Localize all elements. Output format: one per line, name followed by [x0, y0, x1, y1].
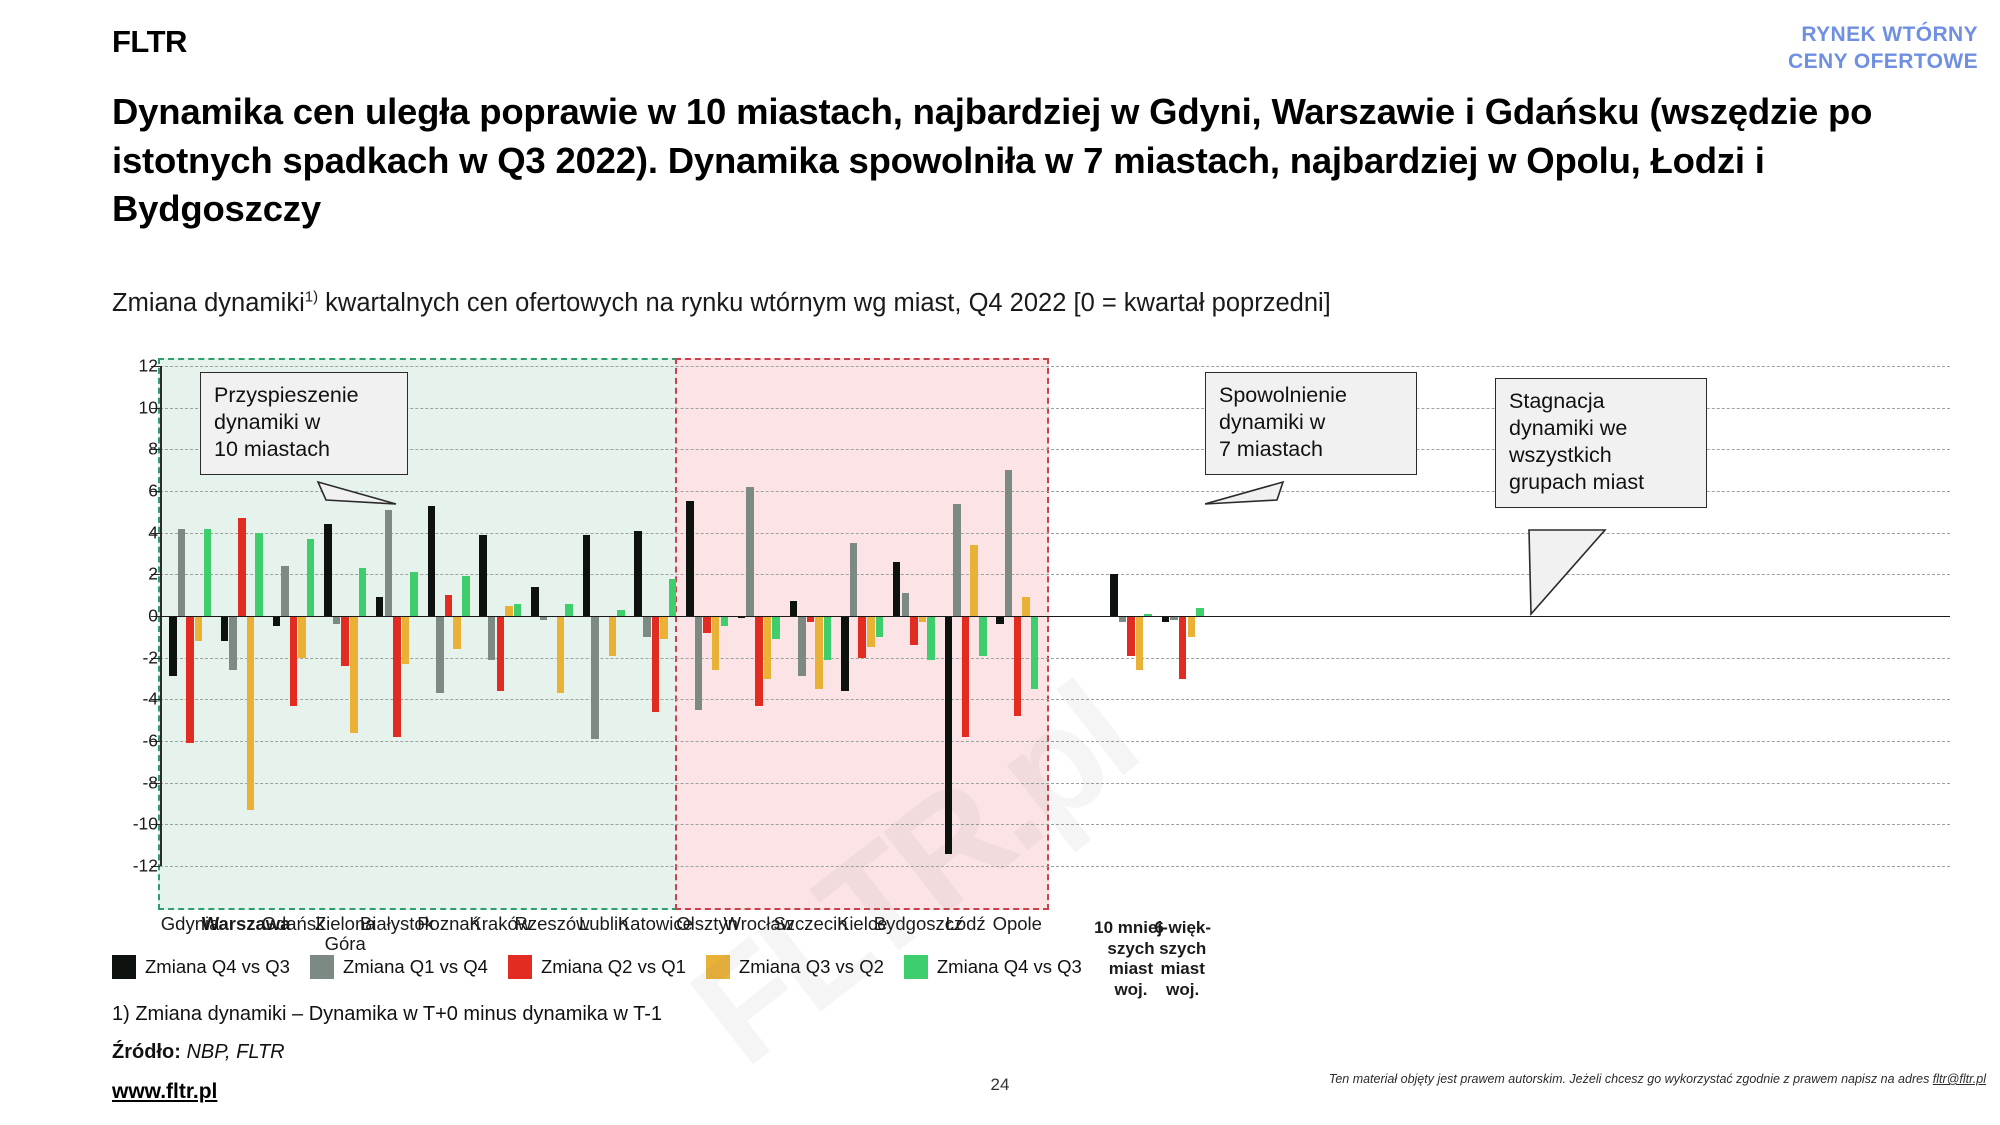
bar [1179, 616, 1187, 679]
bar [867, 616, 875, 647]
bar [1136, 616, 1144, 670]
bar [247, 616, 255, 810]
gridline [160, 783, 1950, 784]
y-axis-label: -4 [104, 689, 158, 710]
footnote-marker: 1) [305, 289, 318, 306]
bar [462, 576, 470, 616]
legend-swatch-icon [508, 955, 532, 979]
bar [479, 535, 487, 616]
y-axis-label: -2 [104, 647, 158, 668]
bar [755, 616, 763, 706]
bar [953, 504, 961, 617]
subtitle-text-after: kwartalnych cen ofertowych na rynku wtór… [318, 289, 1331, 317]
bar [1014, 616, 1022, 716]
chart-legend: Zmiana Q4 vs Q3Zmiana Q1 vs Q4Zmiana Q2 … [112, 955, 1082, 979]
bar [1196, 608, 1204, 616]
bar [893, 562, 901, 616]
y-axis-label: -12 [104, 856, 158, 877]
bar [815, 616, 823, 689]
source-label: Źródło: [112, 1041, 181, 1063]
callout-slowdown: Spowolnienie dynamiki w 7 miastach [1205, 372, 1417, 475]
legend-label: Zmiana Q4 vs Q3 [145, 956, 290, 978]
bar [790, 601, 798, 616]
bar [1005, 470, 1013, 616]
bar [609, 616, 617, 656]
bar [669, 579, 677, 617]
legend-label: Zmiana Q1 vs Q4 [343, 956, 488, 978]
bar [721, 616, 729, 626]
bar [798, 616, 806, 676]
y-axis-label: 8 [104, 439, 158, 460]
bar [350, 616, 358, 733]
y-axis-label: -8 [104, 772, 158, 793]
bar [686, 501, 694, 616]
y-axis-label: 2 [104, 564, 158, 585]
subtitle-text-before: Zmiana dynamiki [112, 289, 305, 317]
chart-subtitle: Zmiana dynamiki1) kwartalnych cen oferto… [112, 288, 1932, 319]
legend-swatch-icon [310, 955, 334, 979]
gridline [160, 366, 1950, 367]
bar [945, 616, 953, 854]
eyebrow-line-1: RYNEK WTÓRNY [1788, 22, 1978, 49]
bar [996, 616, 1004, 624]
legend-item[interactable]: Zmiana Q4 vs Q3 [904, 955, 1082, 979]
y-axis-label: 0 [104, 606, 158, 627]
bar [488, 616, 496, 660]
bar [169, 616, 177, 676]
bar [772, 616, 780, 639]
bar [712, 616, 720, 670]
bar [746, 487, 754, 616]
bar [531, 587, 539, 616]
copyright-text: Ten materiał objęty jest prawem autorski… [1329, 1072, 1933, 1086]
bar [703, 616, 711, 633]
brand-logo: FLTR [112, 24, 187, 60]
page-title: Dynamika cen uległa poprawie w 10 miasta… [112, 88, 1912, 234]
legend-label: Zmiana Q4 vs Q3 [937, 956, 1082, 978]
gridline [160, 866, 1950, 867]
bar [660, 616, 668, 639]
bar [962, 616, 970, 737]
bar [565, 604, 573, 617]
y-axis-label: 10 [104, 397, 158, 418]
copyright-email[interactable]: fltr@fltr.pl [1933, 1072, 1986, 1086]
bar [841, 616, 849, 691]
bar [970, 545, 978, 616]
gridline [160, 741, 1950, 742]
legend-item[interactable]: Zmiana Q2 vs Q1 [508, 955, 686, 979]
bar [695, 616, 703, 710]
x-axis-label: 6 więk- szych miast woj. [1143, 918, 1223, 1001]
bar [178, 529, 186, 617]
gridline [160, 658, 1950, 659]
bar [557, 616, 565, 693]
gridline [160, 699, 1950, 700]
bar-chart: FLTR.pl 121086420-2-4-6-8-10-12 GdyniaWa… [100, 358, 1960, 938]
bar [927, 616, 935, 660]
bar [1127, 616, 1135, 656]
source-line: Źródło: NBP, FLTR [112, 1041, 285, 1064]
bar [393, 616, 401, 737]
bar [505, 606, 513, 616]
bar [1110, 574, 1118, 616]
bar [764, 616, 772, 679]
bar [497, 616, 505, 691]
bar [902, 593, 910, 616]
bar [1188, 616, 1196, 637]
x-axis-label: Opole [977, 914, 1057, 934]
y-axis-label: 12 [104, 356, 158, 377]
callout-acceleration: Przyspieszenie dynamiki w 10 miastach [200, 372, 408, 475]
eyebrow-line-2: CENY OFERTOWE [1788, 49, 1978, 76]
gridline [160, 824, 1950, 825]
source-value: NBP, FLTR [186, 1041, 284, 1063]
footnote-text: 1) Zmiana dynamiki – Dynamika w T+0 minu… [112, 1003, 662, 1026]
bar [824, 616, 832, 660]
y-axis-label: 4 [104, 522, 158, 543]
bar [634, 531, 642, 616]
slide-root: FLTR RYNEK WTÓRNY CENY OFERTOWE Dynamika… [0, 0, 2000, 1125]
y-axis-label: -6 [104, 731, 158, 752]
bar [186, 616, 194, 743]
bar [514, 604, 522, 617]
callout-stagnation: Stagnacja dynamiki we wszystkich grupach… [1495, 378, 1707, 508]
legend-swatch-icon [112, 955, 136, 979]
bar [858, 616, 866, 658]
bar [591, 616, 599, 739]
bar [643, 616, 651, 637]
bar [979, 616, 987, 656]
legend-item[interactable]: Zmiana Q1 vs Q4 [310, 955, 488, 979]
legend-label: Zmiana Q2 vs Q1 [541, 956, 686, 978]
bar [1031, 616, 1039, 689]
legend-label: Zmiana Q3 vs Q2 [739, 956, 884, 978]
bar [876, 616, 884, 637]
bar [910, 616, 918, 645]
bar [850, 543, 858, 616]
y-axis-label: 6 [104, 481, 158, 502]
eyebrow-label: RYNEK WTÓRNY CENY OFERTOWE [1788, 22, 1978, 76]
copyright-notice: Ten materiał objęty jest prawem autorski… [1329, 1072, 1986, 1086]
y-axis-label: -10 [104, 814, 158, 835]
legend-item[interactable]: Zmiana Q3 vs Q2 [706, 955, 884, 979]
bar [1022, 597, 1030, 616]
bar [583, 535, 591, 616]
legend-item[interactable]: Zmiana Q4 vs Q3 [112, 955, 290, 979]
legend-swatch-icon [706, 955, 730, 979]
bar [652, 616, 660, 712]
legend-swatch-icon [904, 955, 928, 979]
